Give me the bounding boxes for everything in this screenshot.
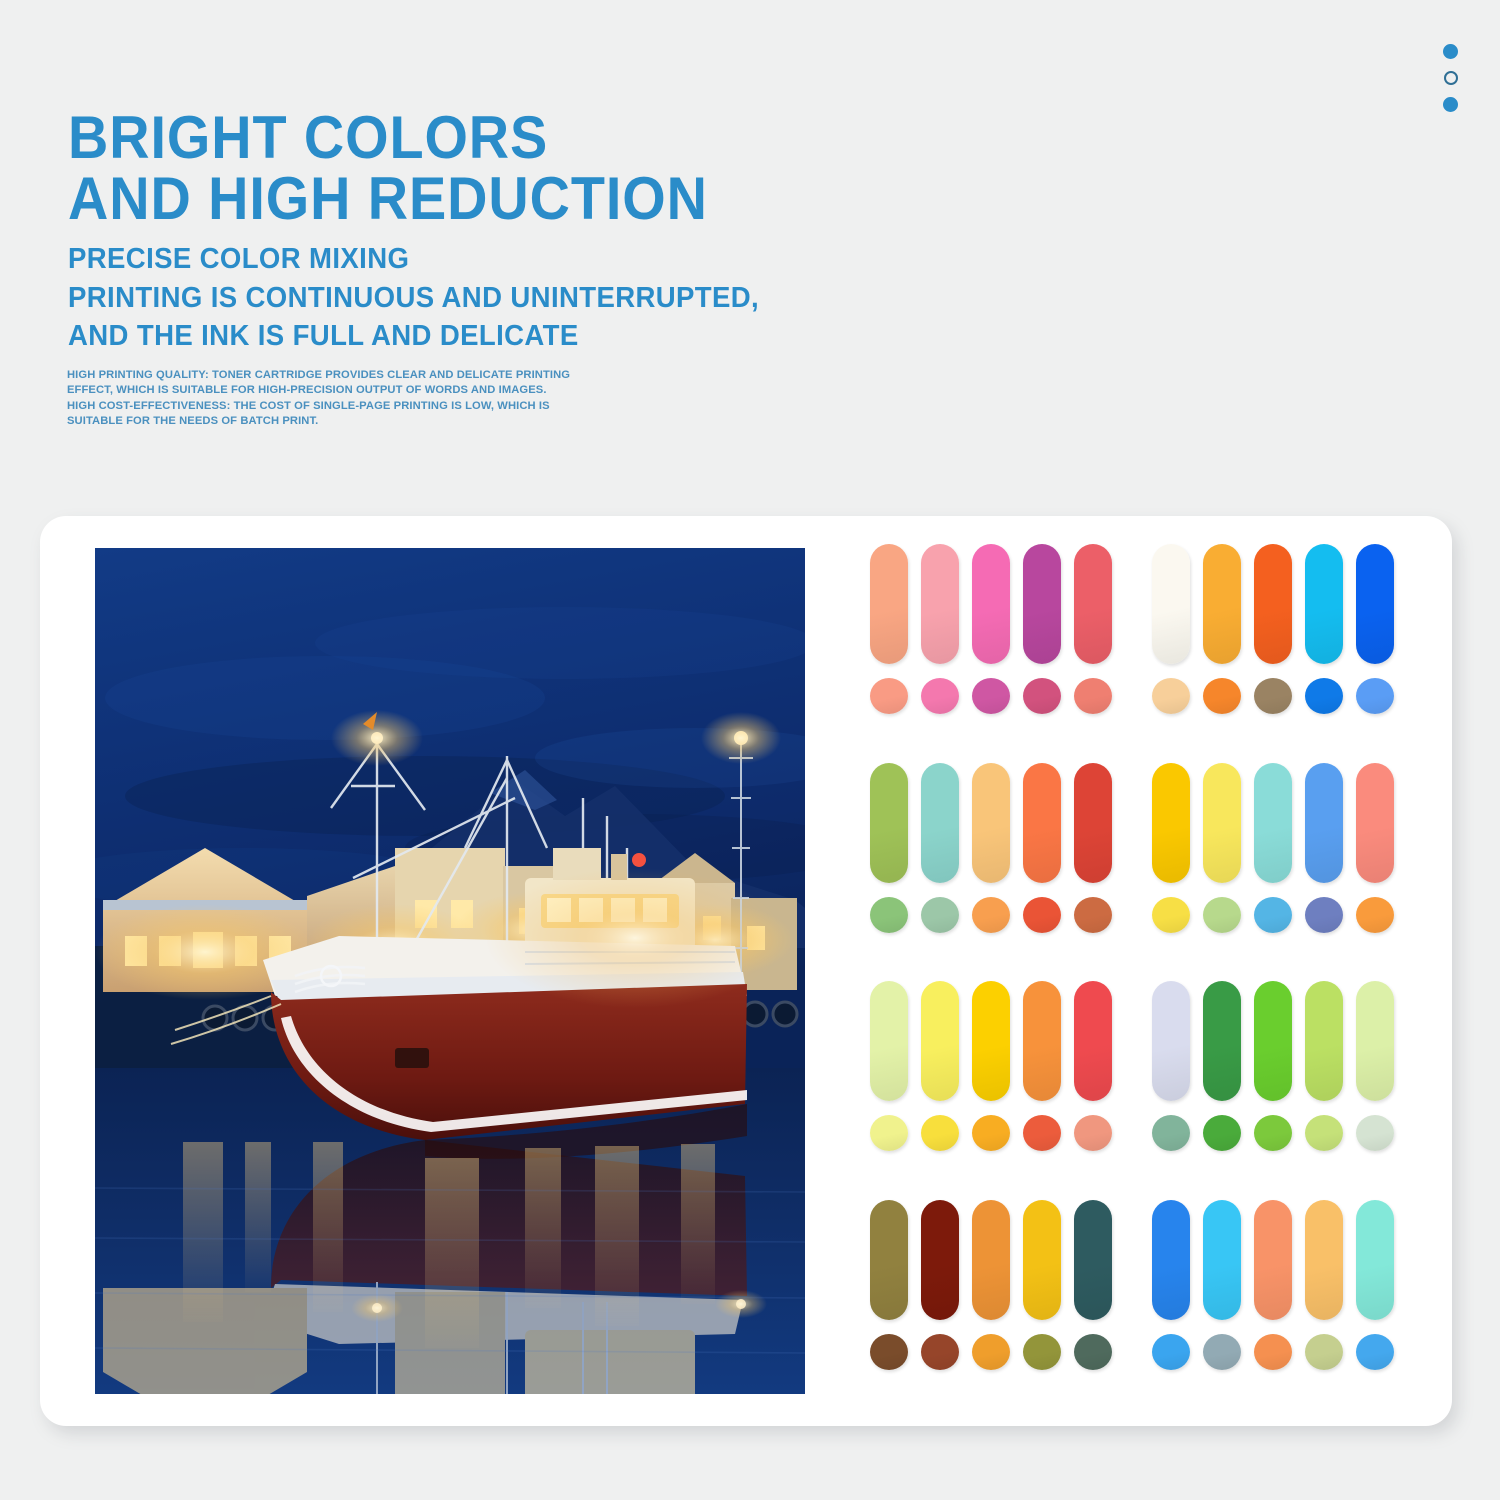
subhead-line-1: PRECISE COLOR MIXING [68, 240, 1018, 279]
swatch-pill[interactable] [1203, 544, 1241, 664]
swatch-pill[interactable] [1203, 763, 1241, 883]
swatch-pill[interactable] [1023, 763, 1061, 883]
swatch-circle[interactable] [1254, 1334, 1292, 1370]
swatch-pill[interactable] [1254, 544, 1292, 664]
swatch-circle[interactable] [870, 1334, 908, 1370]
swatch-pill[interactable] [870, 763, 908, 883]
body-line-2: EFFECT, WHICH IS SUITABLE FOR HIGH-PRECI… [67, 383, 667, 398]
swatch-pill[interactable] [1203, 1200, 1241, 1320]
swatch-circle[interactable] [1203, 1115, 1241, 1151]
swatch-group-5 [870, 981, 1128, 1186]
swatch-circle[interactable] [1203, 897, 1241, 933]
swatch-circle[interactable] [1074, 678, 1112, 714]
swatch-circle[interactable] [972, 897, 1010, 933]
swatch-pill[interactable] [1023, 544, 1061, 664]
headline-line-2: AND HIGH REDUCTION [68, 168, 998, 229]
swatch-pill[interactable] [1356, 1200, 1394, 1320]
swatch-pill[interactable] [1152, 763, 1190, 883]
circle-row-5 [870, 1115, 1128, 1151]
swatch-pill[interactable] [1074, 763, 1112, 883]
swatch-circle[interactable] [1152, 1115, 1190, 1151]
dot-filled-bottom [1443, 97, 1458, 112]
swatch-circle[interactable] [1074, 1334, 1112, 1370]
swatch-circle[interactable] [972, 1334, 1010, 1370]
subhead-line-3: AND THE INK IS FULL AND DELICATE [68, 317, 1018, 356]
swatch-pill[interactable] [870, 544, 908, 664]
swatch-circle[interactable] [870, 897, 908, 933]
swatch-circle[interactable] [921, 1334, 959, 1370]
swatch-pill[interactable] [1356, 763, 1394, 883]
swatch-circle[interactable] [1074, 1115, 1112, 1151]
sample-print-photo [95, 548, 805, 1394]
swatch-group-4 [1152, 763, 1410, 968]
pill-row-3 [870, 763, 1128, 883]
pill-row-8 [1152, 1200, 1410, 1320]
swatch-circle[interactable] [1305, 897, 1343, 933]
swatch-circle[interactable] [921, 897, 959, 933]
dot-hollow-middle [1444, 71, 1458, 85]
headline-line-1: BRIGHT COLORS [68, 104, 548, 171]
swatch-circle[interactable] [1023, 1115, 1061, 1151]
swatch-pill[interactable] [1254, 981, 1292, 1101]
swatch-circle[interactable] [1356, 678, 1394, 714]
swatch-circle[interactable] [1152, 1334, 1190, 1370]
pill-row-6 [1152, 981, 1410, 1101]
swatch-pill[interactable] [1074, 981, 1112, 1101]
swatch-group-3 [870, 763, 1128, 968]
circle-row-4 [1152, 897, 1410, 933]
swatch-circle[interactable] [1023, 897, 1061, 933]
swatch-pill[interactable] [1152, 544, 1190, 664]
swatch-circle[interactable] [1254, 678, 1292, 714]
swatch-circle[interactable] [870, 678, 908, 714]
pill-row-7 [870, 1200, 1128, 1320]
swatch-group-7 [870, 1200, 1128, 1405]
swatch-circle[interactable] [1152, 897, 1190, 933]
pill-row-5 [870, 981, 1128, 1101]
swatch-circle[interactable] [921, 678, 959, 714]
swatch-pill[interactable] [1305, 763, 1343, 883]
body-line-3: HIGH COST-EFFECTIVENESS: THE COST OF SIN… [67, 399, 667, 414]
body-line-1: HIGH PRINTING QUALITY: TONER CARTRIDGE P… [67, 368, 667, 383]
swatch-circle[interactable] [1305, 678, 1343, 714]
color-swatch-grid [870, 544, 1410, 1404]
swatch-circle[interactable] [972, 678, 1010, 714]
swatch-pill[interactable] [1356, 981, 1394, 1101]
swatch-pill[interactable] [1023, 1200, 1061, 1320]
pill-row-2 [1152, 544, 1410, 664]
swatch-pill[interactable] [1305, 981, 1343, 1101]
circle-row-1 [870, 678, 1128, 714]
swatch-pill[interactable] [1074, 1200, 1112, 1320]
swatch-pill[interactable] [1254, 1200, 1292, 1320]
swatch-pill[interactable] [921, 544, 959, 664]
harbour-boat-illustration [95, 548, 805, 1394]
swatch-pill[interactable] [1254, 763, 1292, 883]
swatch-group-2 [1152, 544, 1410, 749]
swatch-circle[interactable] [1254, 897, 1292, 933]
swatch-group-1 [870, 544, 1128, 749]
swatch-circle[interactable] [1023, 1334, 1061, 1370]
subhead-line-2: PRINTING IS CONTINUOUS AND UNINTERRUPTED… [68, 279, 1018, 318]
content-card [40, 516, 1452, 1426]
circle-row-7 [870, 1334, 1128, 1370]
swatch-pill[interactable] [870, 1200, 908, 1320]
pill-row-4 [1152, 763, 1410, 883]
swatch-pill[interactable] [921, 763, 959, 883]
swatch-group-6 [1152, 981, 1410, 1186]
swatch-circle[interactable] [1152, 678, 1190, 714]
swatch-pill[interactable] [972, 763, 1010, 883]
swatch-pill[interactable] [1305, 1200, 1343, 1320]
circle-row-3 [870, 897, 1128, 933]
swatch-pill[interactable] [870, 981, 908, 1101]
swatch-group-8 [1152, 1200, 1410, 1405]
swatch-pill[interactable] [1074, 544, 1112, 664]
swatch-circle[interactable] [1356, 1115, 1394, 1151]
swatch-pill[interactable] [1152, 981, 1190, 1101]
dot-filled-top [1443, 44, 1458, 59]
circle-row-8 [1152, 1334, 1410, 1370]
swatch-circle[interactable] [1254, 1115, 1292, 1151]
swatch-pill[interactable] [921, 981, 959, 1101]
swatch-pill[interactable] [1152, 1200, 1190, 1320]
swatch-circle[interactable] [1203, 1334, 1241, 1370]
swatch-pill[interactable] [1356, 544, 1394, 664]
swatch-circle[interactable] [921, 1115, 959, 1151]
swatch-pill[interactable] [972, 981, 1010, 1101]
circle-row-6 [1152, 1115, 1410, 1151]
swatch-circle[interactable] [1074, 897, 1112, 933]
body-line-4: SUITABLE FOR THE NEEDS OF BATCH PRINT. [67, 414, 667, 429]
swatch-pill[interactable] [1305, 544, 1343, 664]
swatch-pill[interactable] [1203, 981, 1241, 1101]
swatch-circle[interactable] [1305, 1115, 1343, 1151]
swatch-pill[interactable] [1023, 981, 1061, 1101]
swatch-pill[interactable] [972, 1200, 1010, 1320]
page-subheadline: PRECISE COLOR MIXING PRINTING IS CONTINU… [68, 240, 1018, 356]
swatch-circle[interactable] [870, 1115, 908, 1151]
swatch-circle[interactable] [972, 1115, 1010, 1151]
swatch-circle[interactable] [1356, 1334, 1394, 1370]
swatch-circle[interactable] [1356, 897, 1394, 933]
swatch-circle[interactable] [1203, 678, 1241, 714]
circle-row-2 [1152, 678, 1410, 714]
body-copy: HIGH PRINTING QUALITY: TONER CARTRIDGE P… [67, 368, 667, 429]
corner-dot-decoration [1443, 44, 1458, 112]
swatch-pill[interactable] [972, 544, 1010, 664]
swatch-pill[interactable] [921, 1200, 959, 1320]
pill-row-1 [870, 544, 1128, 664]
swatch-circle[interactable] [1305, 1334, 1343, 1370]
swatch-circle[interactable] [1023, 678, 1061, 714]
